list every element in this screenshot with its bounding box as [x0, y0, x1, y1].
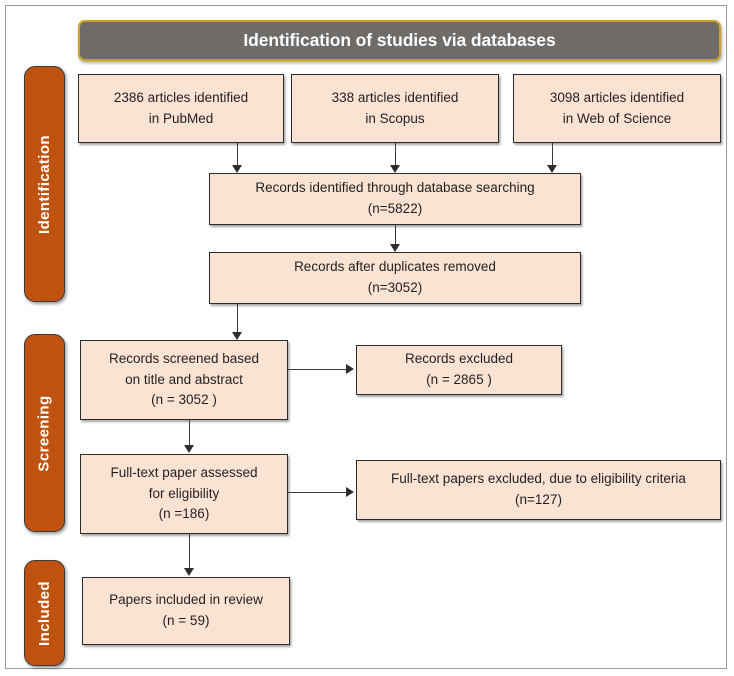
arrowhead-screened-to-excluded [346, 364, 354, 374]
box-scopus: 338 articles identified in Scopus [291, 74, 499, 143]
box-fulltext-excluded-line-1: Full-text papers excluded, due to eligib… [391, 469, 686, 490]
box-fulltext-assessed-line-2: for eligibility [149, 484, 220, 505]
stage-pill-included: Included [24, 560, 65, 666]
connector-fulltext-to-excluded [288, 492, 348, 493]
box-pubmed-line-2: in PubMed [149, 109, 214, 130]
stage-pill-identification: Identification [24, 66, 65, 302]
box-fulltext-assessed: Full-text paper assessed for eligibility… [80, 454, 288, 534]
stage-pill-screening: Screening [24, 334, 65, 532]
box-records-excluded-line-2: (n = 2865 ) [426, 370, 492, 391]
box-records-screened-line-1: Records screened based [109, 349, 259, 370]
box-records-identified-line-1: Records identified through database sear… [255, 178, 534, 199]
connector-screened-to-fulltext [189, 420, 190, 448]
box-records-identified: Records identified through database sear… [209, 173, 581, 225]
prisma-flow-diagram: Identification of studies via databases … [0, 0, 734, 676]
box-records-excluded-line-1: Records excluded [405, 349, 513, 370]
box-records-identified-line-2: (n=5822) [368, 199, 422, 220]
box-web-of-science-line-1: 3098 articles identified [550, 88, 684, 109]
box-fulltext-excluded-line-2: (n=127) [515, 490, 562, 511]
stage-label-identification: Identification [36, 135, 53, 234]
box-records-excluded: Records excluded (n = 2865 ) [356, 345, 562, 395]
box-papers-included-line-2: (n = 59) [163, 611, 210, 632]
arrowhead-identified-to-duplicates [390, 244, 400, 252]
box-duplicates-removed: Records after duplicates removed (n=3052… [209, 252, 581, 304]
box-pubmed: 2386 articles identified in PubMed [78, 74, 284, 143]
arrowhead-wos-down [547, 165, 557, 173]
box-duplicates-removed-line-1: Records after duplicates removed [294, 257, 496, 278]
box-web-of-science: 3098 articles identified in Web of Scien… [513, 74, 721, 143]
box-records-screened-line-2: on title and abstract [125, 370, 243, 391]
banner-title: Identification of studies via databases [243, 30, 555, 51]
connector-fulltext-to-included [189, 534, 190, 571]
box-pubmed-line-1: 2386 articles identified [114, 88, 248, 109]
arrowhead-fulltext-to-excluded [346, 487, 354, 497]
box-papers-included-line-1: Papers included in review [109, 590, 263, 611]
arrowhead-pubmed-down [232, 165, 242, 173]
box-web-of-science-line-2: in Web of Science [563, 109, 672, 130]
box-scopus-line-2: in Scopus [365, 109, 424, 130]
box-papers-included: Papers included in review (n = 59) [82, 577, 290, 645]
arrowhead-duplicates-to-screened [232, 332, 242, 340]
box-scopus-line-1: 338 articles identified [332, 88, 459, 109]
box-records-screened: Records screened based on title and abst… [80, 340, 288, 420]
box-duplicates-removed-line-2: (n=3052) [368, 278, 422, 299]
stage-label-included: Included [36, 581, 53, 646]
stage-label-screening: Screening [36, 395, 53, 471]
arrowhead-fulltext-to-included [184, 568, 194, 576]
box-fulltext-excluded: Full-text papers excluded, due to eligib… [356, 460, 721, 520]
arrowhead-scopus-down [390, 165, 400, 173]
box-fulltext-assessed-line-3: (n =186) [159, 504, 210, 525]
connector-screened-to-excluded [288, 369, 348, 370]
diagram-banner: Identification of studies via databases [78, 20, 721, 61]
box-fulltext-assessed-line-1: Full-text paper assessed [110, 463, 257, 484]
box-records-screened-line-3: (n = 3052 ) [151, 390, 217, 411]
arrowhead-screened-to-fulltext [184, 445, 194, 453]
